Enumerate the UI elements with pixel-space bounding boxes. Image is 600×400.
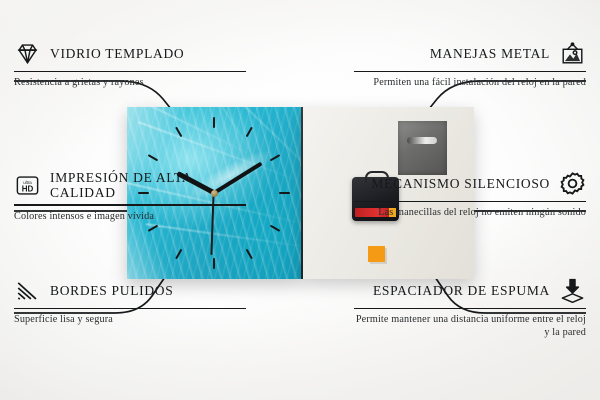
divider [354, 308, 586, 309]
feature-subtitle: Permiten una fácil instalación del reloj… [354, 76, 586, 89]
feature-mecanismo-silencioso: MECANISMO SILENCIOSO Las manecillas del … [354, 170, 586, 219]
feature-subtitle: Colores intensos e imagen vívida [14, 210, 246, 223]
gear-icon [559, 170, 586, 197]
feature-subtitle: Resistencia a grietas y rayones [14, 76, 246, 89]
metal-hanger-plate [398, 121, 447, 175]
feature-title: MECANISMO SILENCIOSO [371, 176, 550, 191]
feature-title: ESPACIADOR DE ESPUMA [373, 283, 550, 298]
feature-manejas-metal: MANEJAS METAL Permiten una fácil instala… [354, 40, 586, 89]
divider [14, 204, 246, 205]
svg-text:HD: HD [22, 184, 34, 193]
divider [14, 71, 246, 72]
diamond-icon [14, 40, 41, 67]
feature-bordes-pulidos: BORDES PULIDOS Superficie lisa y segura [14, 277, 246, 326]
divider [14, 308, 246, 309]
divider [354, 201, 586, 202]
feature-impresion-alta-calidad: ultra HD IMPRESIÓN DE ALTA CALIDAD Color… [14, 170, 246, 223]
divider [354, 71, 586, 72]
feature-espaciador-espuma: ESPACIADOR DE ESPUMA Permite mantener un… [354, 277, 586, 339]
feature-vidrio-templado: VIDRIO TEMPLADO Resistencia a grietas y … [14, 40, 246, 89]
feature-subtitle: Las manecillas del reloj no emiten ningú… [354, 206, 586, 219]
foam-spacer-icon [559, 277, 586, 304]
infographic-canvas: VIDRIO TEMPLADO Resistencia a grietas y … [0, 0, 600, 400]
picture-frame-icon [559, 40, 586, 67]
feature-title: IMPRESIÓN DE ALTA CALIDAD [50, 170, 246, 200]
feature-title: BORDES PULIDOS [50, 283, 173, 298]
foam-spacer [368, 246, 385, 262]
ultra-hd-icon: ultra HD [14, 172, 41, 199]
polished-edge-icon [14, 277, 41, 304]
feature-subtitle: Superficie lisa y segura [14, 313, 246, 326]
feature-title: VIDRIO TEMPLADO [50, 46, 184, 61]
feature-subtitle: Permite mantener una distancia uniforme … [354, 313, 586, 339]
feature-title: MANEJAS METAL [430, 46, 550, 61]
